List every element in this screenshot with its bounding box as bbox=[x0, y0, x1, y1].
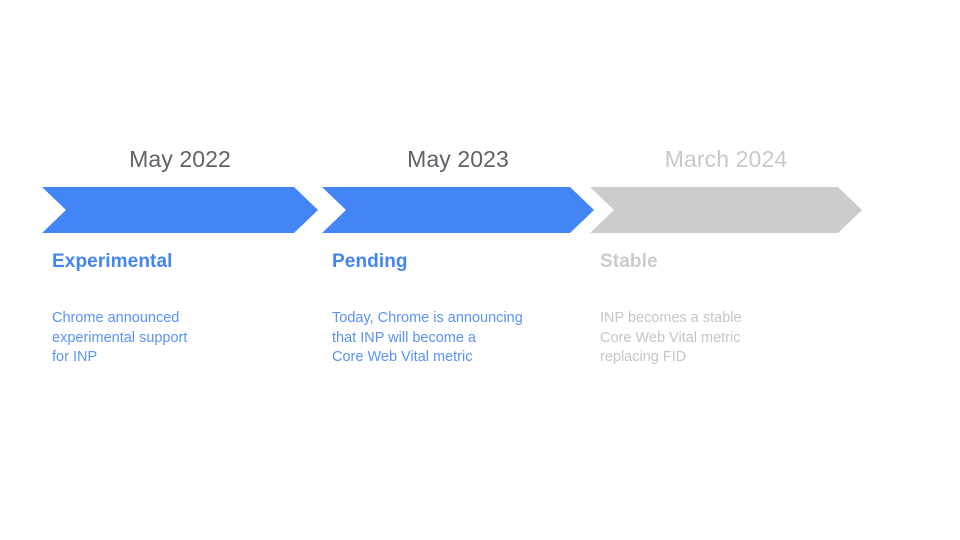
chevron-arrow-icon bbox=[42, 187, 318, 233]
chevron-shape bbox=[590, 187, 862, 233]
chevron-shape bbox=[322, 187, 594, 233]
segment-heading: Experimental bbox=[52, 251, 173, 273]
segment-description: Chrome announced experimental support fo… bbox=[52, 309, 187, 368]
timeline-diagram-canvas: May 2022 Experimental Chrome announced e… bbox=[0, 0, 960, 540]
timeline: May 2022 Experimental Chrome announced e… bbox=[42, 146, 922, 406]
chevron-arrow-icon bbox=[322, 187, 594, 233]
chevron-shape bbox=[42, 187, 318, 233]
segment-date-label: May 2022 bbox=[42, 146, 318, 173]
chevron-arrow-icon bbox=[590, 187, 862, 233]
segment-description: INP becomes a stable Core Web Vital metr… bbox=[600, 309, 742, 368]
segment-description: Today, Chrome is announcing that INP wil… bbox=[332, 309, 523, 368]
segment-date-label: March 2024 bbox=[590, 146, 862, 173]
segment-date-label: May 2023 bbox=[322, 146, 594, 173]
segment-heading: Pending bbox=[332, 251, 408, 273]
segment-heading: Stable bbox=[600, 251, 658, 273]
